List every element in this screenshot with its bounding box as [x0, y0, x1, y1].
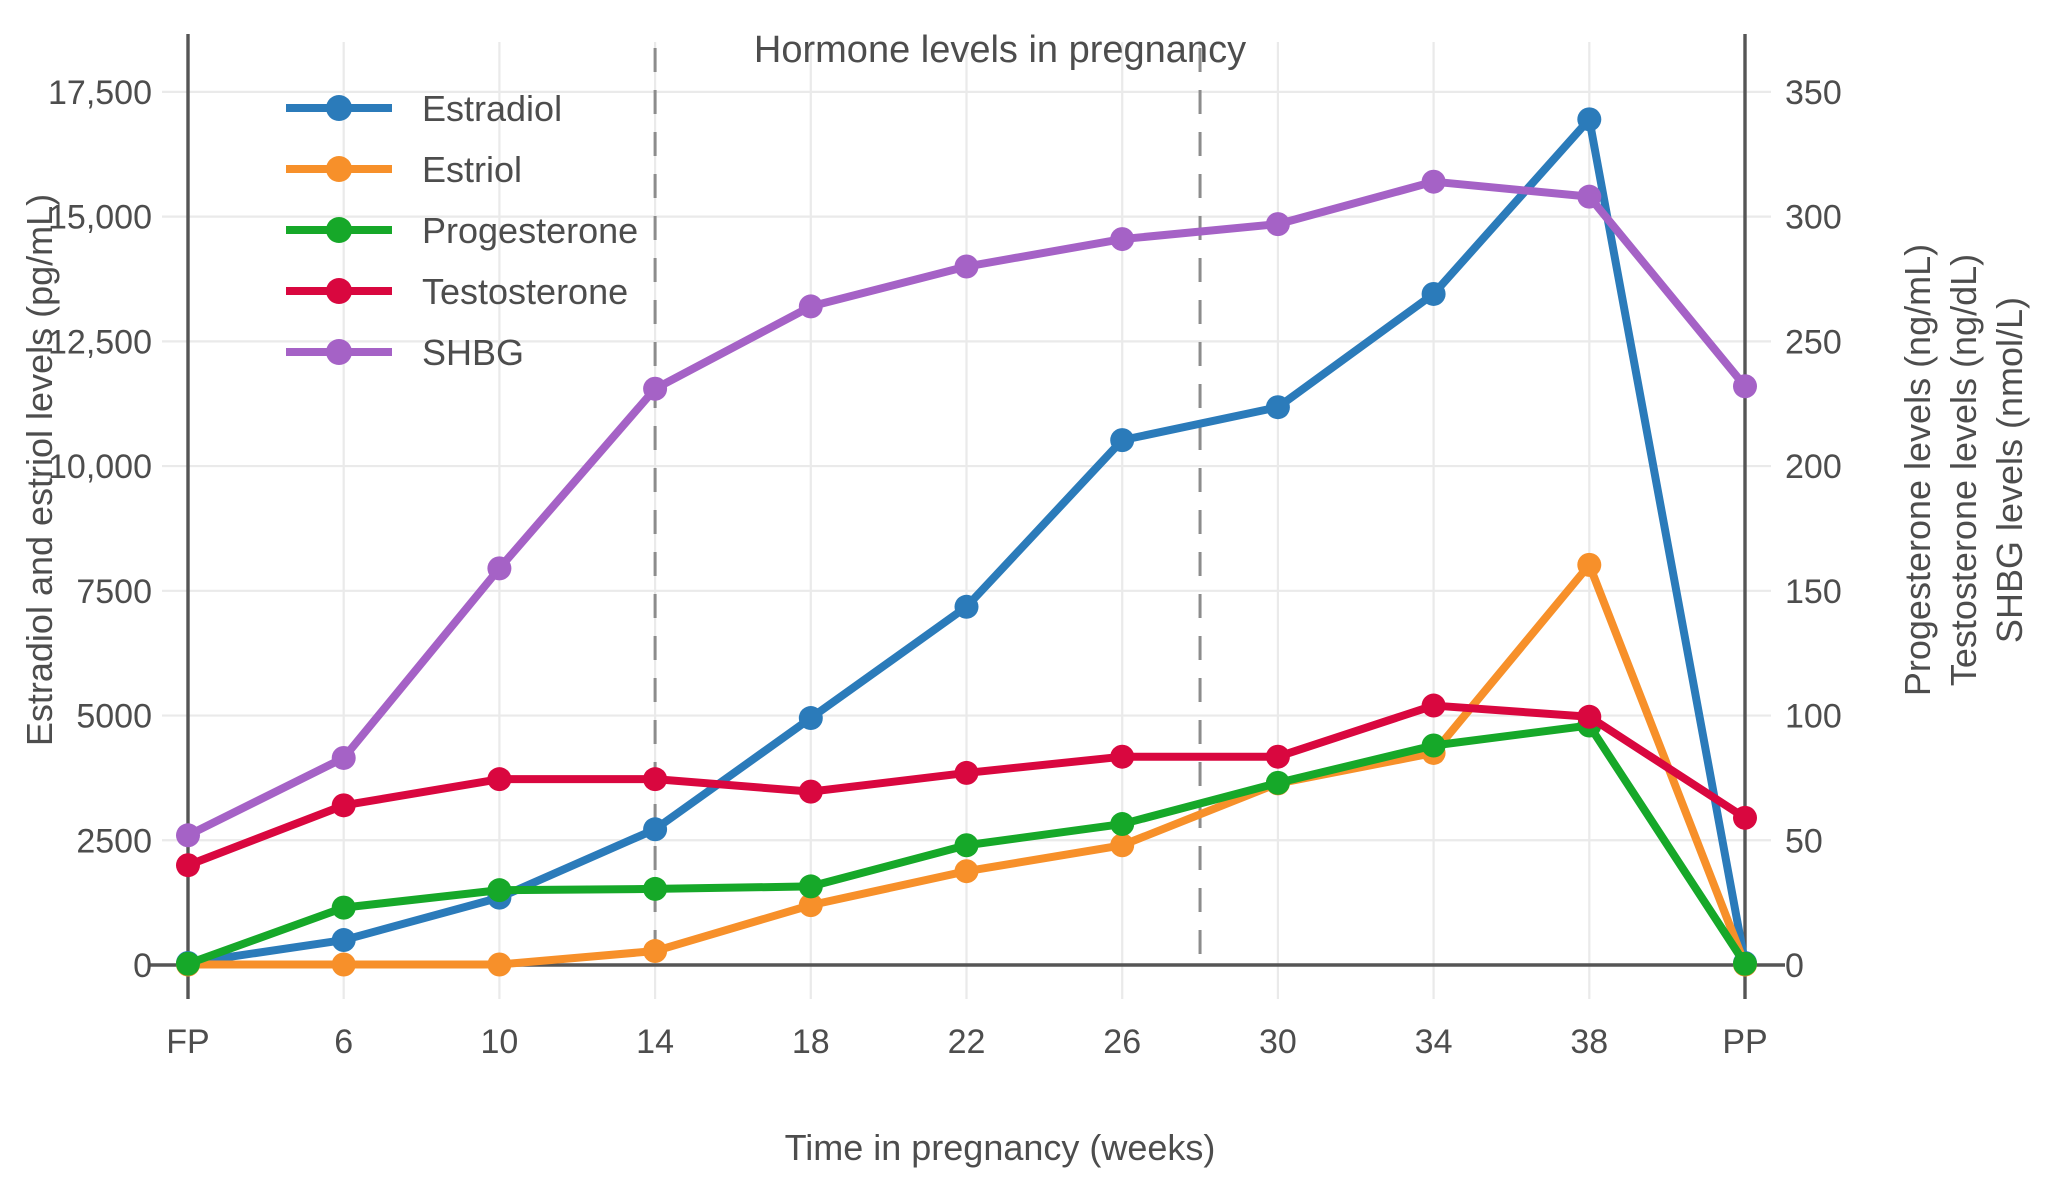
y-axis-right-title-progesterone: Progesterone levels (ng/mL): [1897, 244, 1938, 696]
data-point: [1577, 553, 1601, 577]
x-axis-tick-label: 10: [480, 1023, 518, 1061]
y-axis-left-tick-label: 5000: [76, 698, 152, 736]
y-axis-right-tick-label: 250: [1785, 323, 1842, 361]
x-axis-tick-label: PP: [1722, 1023, 1767, 1061]
legend-label: SHBG: [422, 332, 524, 373]
data-point: [1110, 745, 1134, 769]
data-point: [176, 952, 200, 976]
y-axis-left-tick-label: 0: [133, 947, 152, 985]
legend-marker-dot-icon: [326, 95, 352, 121]
data-point: [643, 817, 667, 841]
data-point: [1577, 705, 1601, 729]
data-point: [1110, 812, 1134, 836]
y-axis-right-tick-label: 0: [1785, 947, 1804, 985]
x-axis-tick-label: 22: [948, 1023, 986, 1061]
data-point: [176, 853, 200, 877]
data-point: [1733, 374, 1757, 398]
legend-marker-dot-icon: [326, 339, 352, 365]
data-point: [643, 767, 667, 791]
legend-label: Estradiol: [422, 88, 562, 129]
data-point: [1266, 745, 1290, 769]
data-point: [487, 767, 511, 791]
figure-background: [0, 0, 2048, 1196]
data-point: [332, 746, 356, 770]
data-point: [1422, 694, 1446, 718]
y-axis-right-title-testosterone: Testosterone levels (ng/dL): [1943, 254, 1984, 686]
x-axis-tick-label: 30: [1259, 1023, 1297, 1061]
data-point: [955, 595, 979, 619]
data-point: [643, 377, 667, 401]
y-axis-left-title: Estradiol and estriol levels (pg/mL): [19, 194, 60, 746]
data-point: [1577, 185, 1601, 209]
y-axis-right-tick-label: 300: [1785, 199, 1842, 237]
y-axis-left-tick-label: 10,000: [48, 448, 152, 486]
legend-marker-dot-icon: [326, 217, 352, 243]
data-point: [332, 896, 356, 920]
data-point: [799, 706, 823, 730]
data-point: [1422, 733, 1446, 757]
data-point: [1110, 428, 1134, 452]
data-point: [487, 953, 511, 977]
y-axis-left-tick-label: 2500: [76, 822, 152, 860]
data-point: [1266, 395, 1290, 419]
x-axis-tick-label: 6: [334, 1023, 353, 1061]
data-point: [487, 556, 511, 580]
y-axis-right-title-shbg: SHBG levels (nmol/L): [1989, 297, 2030, 643]
chart-canvas: 025005000750010,00012,50015,00017,500 05…: [0, 0, 2048, 1196]
data-point: [643, 877, 667, 901]
data-point: [955, 833, 979, 857]
y-axis-left-tick-label: 12,500: [48, 323, 152, 361]
data-point: [955, 255, 979, 279]
y-axis-right-tick-label: 200: [1785, 448, 1842, 486]
y-axis-right-tick-label: 150: [1785, 573, 1842, 611]
data-point: [1422, 170, 1446, 194]
data-point: [955, 859, 979, 883]
data-point: [1266, 771, 1290, 795]
data-point: [1266, 212, 1290, 236]
legend-label: Progesterone: [422, 210, 638, 251]
data-point: [799, 780, 823, 804]
x-axis-tick-label: 38: [1570, 1023, 1608, 1061]
data-point: [332, 793, 356, 817]
data-point: [955, 761, 979, 785]
data-point: [332, 928, 356, 952]
x-axis-tick-label: 34: [1415, 1023, 1453, 1061]
y-axis-left-tick-label: 15,000: [48, 199, 152, 237]
x-axis-tick-label: 14: [636, 1023, 674, 1061]
data-point: [176, 823, 200, 847]
data-point: [1733, 806, 1757, 830]
legend-marker-dot-icon: [326, 278, 352, 304]
data-point: [487, 878, 511, 902]
legend-marker-dot-icon: [326, 156, 352, 182]
data-point: [643, 939, 667, 963]
x-axis-tick-label: FP: [166, 1023, 209, 1061]
data-point: [1577, 107, 1601, 131]
x-axis-title: Time in pregnancy (weeks): [785, 1127, 1216, 1168]
data-point: [1110, 227, 1134, 251]
data-point: [1733, 952, 1757, 976]
y-axis-right-tick-label: 350: [1785, 74, 1842, 112]
data-point: [332, 953, 356, 977]
data-point: [799, 874, 823, 898]
data-point: [1422, 282, 1446, 306]
y-axis-left-tick-label: 7500: [76, 573, 152, 611]
y-axis-left-tick-label: 17,500: [48, 74, 152, 112]
data-point: [799, 294, 823, 318]
chart-title: Hormone levels in pregnancy: [754, 29, 1246, 71]
y-axis-right-tick-label: 50: [1785, 822, 1823, 860]
legend-label: Testosterone: [422, 271, 628, 312]
y-axis-right-tick-label: 100: [1785, 698, 1842, 736]
x-axis-tick-label: 18: [792, 1023, 830, 1061]
data-point: [1110, 833, 1134, 857]
chart-figure: 025005000750010,00012,50015,00017,500 05…: [0, 0, 2048, 1196]
x-axis-tick-label: 26: [1103, 1023, 1141, 1061]
legend-label: Estriol: [422, 149, 522, 190]
